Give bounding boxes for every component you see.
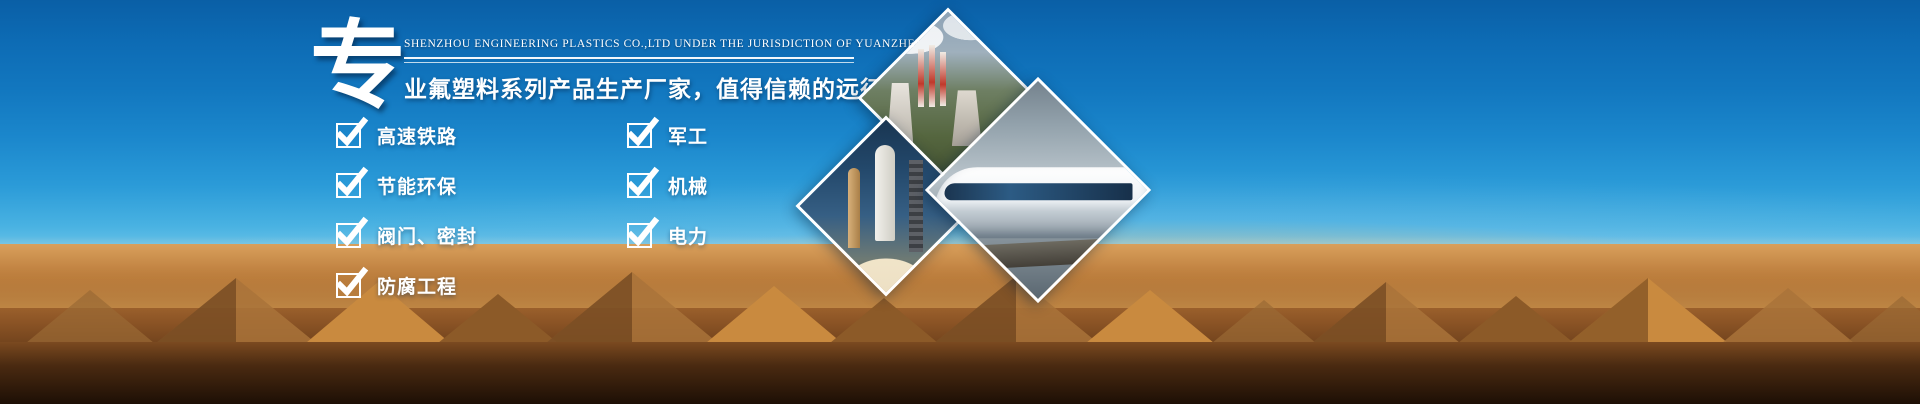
checklist-item-label: 电力	[668, 222, 708, 249]
photo-collage	[810, 22, 1230, 302]
feature-checklist: 高速铁路 节能环保 阀门、密封 防腐工程	[336, 122, 708, 299]
checklist-item-label: 军工	[668, 122, 708, 149]
checkbox-checked-icon	[627, 223, 652, 248]
checklist-item[interactable]: 军工	[627, 122, 708, 149]
chimney	[940, 52, 946, 106]
checklist-item-label: 机械	[668, 172, 708, 199]
checklist-item[interactable]: 电力	[627, 222, 708, 249]
checklist-left-column: 高速铁路 节能环保 阀门、密封 防腐工程	[336, 122, 477, 299]
foreground-ground	[0, 342, 1920, 404]
checkbox-checked-icon	[627, 173, 652, 198]
checklist-item-label: 阀门、密封	[377, 222, 477, 249]
checklist-item-label: 防腐工程	[377, 272, 457, 299]
checkbox-checked-icon	[336, 273, 361, 298]
checklist-item[interactable]: 节能环保	[336, 172, 477, 199]
checklist-item[interactable]: 高速铁路	[336, 122, 477, 149]
checklist-item[interactable]: 防腐工程	[336, 272, 477, 299]
checklist-item-label: 高速铁路	[377, 122, 457, 149]
checkbox-checked-icon	[336, 173, 361, 198]
checklist-item[interactable]: 机械	[627, 172, 708, 199]
promo-banner: 专 SHENZHOU ENGINEERING PLASTICS CO.,LTD …	[0, 0, 1920, 404]
launch-tower	[909, 160, 923, 252]
divider-thick-line	[404, 57, 854, 59]
checkbox-checked-icon	[336, 123, 361, 148]
chimney	[929, 45, 935, 107]
checklist-right-column: 军工 机械 电力	[627, 122, 708, 299]
checklist-item[interactable]: 阀门、密封	[336, 222, 477, 249]
chimney	[918, 49, 924, 107]
rail-track	[925, 236, 1151, 272]
checkbox-checked-icon	[627, 123, 652, 148]
divider	[404, 57, 854, 63]
divider-thin-line	[404, 62, 854, 63]
checkbox-checked-icon	[336, 223, 361, 248]
checklist-item-label: 节能环保	[377, 172, 457, 199]
